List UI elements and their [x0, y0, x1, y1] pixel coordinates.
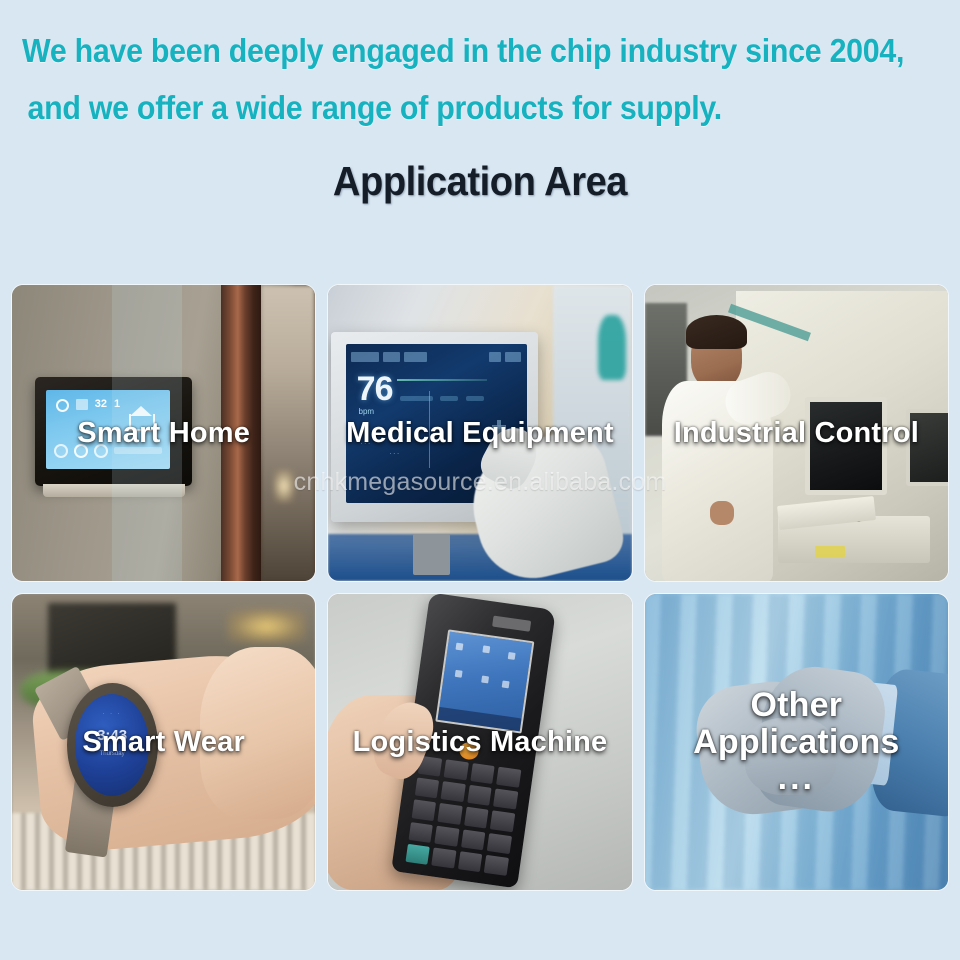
keypad-key: [487, 833, 512, 854]
card-smart-home[interactable]: 32 1 Smart Home: [12, 285, 315, 581]
status-seg-1: [351, 352, 378, 362]
card-logistics-machine[interactable]: Logistics Machine: [328, 594, 631, 890]
screen-badge-value: 32: [95, 399, 107, 410]
monitor-small-text-2: . . .: [389, 449, 399, 456]
card-smart-wear[interactable]: ∙ ∙ ∙ 3:43 Thursday Smart Wear: [12, 594, 315, 890]
other-applications-ellipsis: ...: [651, 760, 942, 797]
monitor-pill-2: [440, 396, 458, 401]
keypad-key: [458, 851, 483, 872]
other-applications-line2: Applications: [693, 723, 899, 761]
monitor-stand: [413, 534, 449, 575]
status-seg-5: [505, 352, 520, 362]
teal-equipment-blur: [598, 315, 625, 380]
keypad-key: [432, 847, 457, 868]
card-label-logistics-machine: Logistics Machine: [328, 726, 631, 758]
keypad-key: [415, 778, 440, 799]
card-label-smart-wear: Smart Wear: [12, 726, 315, 758]
headline-block: We have been deeply engaged in the chip …: [0, 0, 960, 136]
card-label-industrial-control: Industrial Control: [645, 417, 948, 449]
keypad-key: [496, 767, 521, 788]
background-lights: [227, 609, 306, 645]
card-label-other-applications: Other Applications ...: [645, 687, 948, 797]
screen-status-icons: 32 1: [56, 399, 120, 412]
keypad-key: [484, 855, 509, 876]
desktop-icon-6: [502, 680, 510, 688]
card-medical-equipment[interactable]: 76 bpm . . . . . . Medical Equipment: [328, 285, 631, 581]
status-seg-3: [404, 352, 428, 362]
keypad-key: [435, 825, 460, 846]
technician-hand: [710, 501, 734, 525]
card-label-smart-home: Smart Home: [12, 417, 315, 449]
desktop-icon-5: [481, 675, 489, 683]
device-keypad: [405, 756, 521, 876]
vital-unit: bpm: [359, 407, 375, 416]
headline-line-1: We have been deeply engaged in the chip …: [22, 22, 865, 79]
application-area-grid: 32 1 Smart Home: [12, 285, 948, 890]
headline-line-2: and we offer a wide range of products fo…: [22, 79, 865, 136]
waveform-line: [397, 379, 488, 381]
card-label-medical-equipment: Medical Equipment: [328, 417, 631, 449]
keypad-key: [438, 803, 463, 824]
keypad-key: [444, 759, 469, 780]
vital-value: 76: [357, 372, 393, 406]
keypad-key-function: [405, 843, 430, 864]
keypad-key: [409, 822, 434, 843]
status-seg-2: [383, 352, 400, 362]
card-other-applications[interactable]: Other Applications ...: [645, 594, 948, 890]
desktop-icon-1: [456, 643, 464, 651]
page-title: Application Area: [34, 158, 927, 205]
monitor-status-bar: [351, 350, 522, 364]
keypad-key: [412, 800, 437, 821]
keypad-key: [490, 811, 515, 832]
grid-tile-icon: [76, 399, 88, 410]
device-screen: [435, 629, 534, 733]
card-industrial-control[interactable]: Industrial Control: [645, 285, 948, 581]
monitor-pill-3: [466, 396, 484, 401]
keypad-key: [470, 763, 495, 784]
keypad-key: [493, 789, 518, 810]
device-speaker-grill: [492, 616, 531, 632]
other-applications-line1: Other: [750, 686, 842, 724]
status-seg-4: [489, 352, 501, 362]
keypad-key: [441, 781, 466, 802]
monitor-pill-1: [400, 396, 433, 401]
desktop-icon-4: [455, 670, 463, 678]
keypad-key: [461, 829, 486, 850]
room-lamp-glow: [273, 469, 295, 503]
desktop-icon-3: [508, 652, 516, 660]
machine-yellow-label: [815, 546, 845, 558]
watch-status-icons: ∙ ∙ ∙: [75, 711, 150, 717]
keypad-key: [464, 807, 489, 828]
sun-icon: [56, 399, 69, 412]
page-root: { "header": { "headline_line1": "We have…: [0, 0, 960, 960]
keypad-key: [467, 785, 492, 806]
desktop-icon-2: [482, 645, 490, 653]
technician-hair: [686, 315, 747, 350]
